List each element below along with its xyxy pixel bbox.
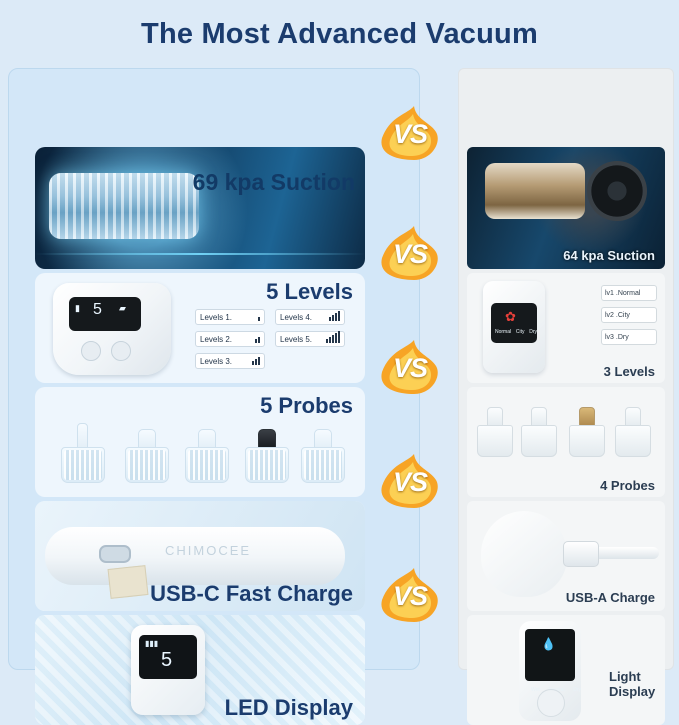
level-badge-5: Levels 5. [275,331,345,347]
probe-5 [301,431,343,483]
right-card-suction: 64 kpa Suction [467,147,665,269]
competitor-probe-3 [569,407,603,457]
probe-3 [185,431,227,483]
right-caption-display: Light Display [609,669,657,699]
vs-badge-3: VS [374,332,446,404]
screen-icon-a: ▮ [75,303,80,314]
level-badge-1-bars [258,317,260,321]
competitor-led-mode-wet: Wet [531,687,540,693]
competitor-led-mode-dry: Dry [573,687,581,693]
level-badge-4-bars [329,311,340,321]
left-card-probes: 5 Probes [35,387,365,497]
glow-line-decoration [35,253,365,255]
left-caption-probes: 5 Probes [260,393,353,419]
competitor-mode-dry: Dry [529,329,537,335]
competitor-led-screen: 💧 Wet Neutral Dry [525,629,575,681]
left-product-panel: 69 kpa Suction ▮ 5 ▰ Levels 1. Levels 2.… [8,68,420,670]
left-card-display: ▮▮▮ 5 LED Display [35,615,365,725]
usb-a-connector-icon [563,541,599,567]
right-competitor-panel: 64 kpa Suction ✿ Normal City Dry lv1 .No… [458,68,674,670]
led-screen-digit: 5 [161,649,172,672]
competitor-probe-1 [477,407,511,457]
probe-2 [125,431,167,483]
competitor-level-badge-2: lv2 .City [601,307,657,323]
competitor-level-badge-3: lv3 .Dry [601,329,657,345]
level-badge-3-bars [252,357,260,365]
right-caption-levels: 3 Levels [604,364,655,379]
left-card-charge: CHIMOCEE USB-C Fast Charge [35,501,365,611]
level-badge-3: Levels 3. [195,353,265,369]
left-caption-display: LED Display [225,695,353,721]
probe-1 [61,431,103,483]
competitor-screen-symbol: ✿ [505,309,516,325]
motor-illustration [49,173,199,239]
competitor-mode-city: City [516,329,525,335]
motor-photo-icon [35,147,365,269]
vs-label-4: VS [374,446,446,518]
left-caption-suction: 69 kpa Suction [193,169,355,196]
page-title: The Most Advanced Vacuum [0,18,679,51]
vs-label-5: VS [374,560,446,632]
vs-badge-4: VS [374,446,446,518]
right-caption-charge: USB-A Charge [566,590,655,605]
device-screen: ▮ 5 ▰ [69,297,141,331]
charging-tag [108,565,149,599]
level-badge-5-label: Levels 5. [280,335,312,344]
right-card-charge: USB-A Charge [467,501,665,611]
left-card-levels: ▮ 5 ▰ Levels 1. Levels 2. Levels 3. Leve… [35,273,365,383]
device-mode-button[interactable] [111,341,131,361]
competitor-led-knob[interactable] [537,689,565,717]
competitor-motor-illustration [485,163,585,219]
competitor-probe-4 [615,407,649,457]
vs-label-1: VS [374,98,446,170]
level-badge-5-bars [326,331,340,343]
level-badge-3-label: Levels 3. [200,357,232,366]
level-badge-2-label: Levels 2. [200,335,232,344]
led-device-screen: ▮▮▮ 5 [139,635,197,679]
competitor-level-badge-1: lv1 .Normal [601,285,657,301]
right-card-levels: ✿ Normal City Dry lv1 .Normal lv2 .City … [467,273,665,383]
led-device-illustration: ▮▮▮ 5 [131,625,205,715]
vs-label-2: VS [374,218,446,290]
battery-icon: ▰ [119,303,126,314]
left-caption-charge: USB-C Fast Charge [150,581,353,607]
level-badge-2-bars [255,337,260,343]
vs-badge-2: VS [374,218,446,290]
level-badge-1: Levels 1. [195,309,265,325]
led-screen-icons: ▮▮▮ [145,639,158,648]
vs-label-3: VS [374,332,446,404]
right-card-display: 💧 Wet Neutral Dry Light Display [467,615,665,725]
competitor-led-photo-icon: 💧 Wet Neutral Dry [519,621,581,721]
vs-badge-5: VS [374,560,446,632]
probe-4 [245,431,287,483]
device-photo-icon: ▮ 5 ▰ [53,283,171,375]
level-badge-4-label: Levels 4. [280,313,312,322]
competitor-mode-normal: Normal [495,329,511,335]
usb-a-photo-icon [481,511,567,597]
competitor-device-screen: ✿ Normal City Dry [491,303,537,343]
screen-level-digit: 5 [93,301,102,319]
right-card-probes: 4 Probes [467,387,665,497]
level-badge-2: Levels 2. [195,331,265,347]
vs-badge-1: VS [374,98,446,170]
left-caption-levels: 5 Levels [266,279,353,305]
water-drop-icon: 💧 [541,637,556,651]
device-power-button[interactable] [81,341,101,361]
level-badge-4: Levels 4. [275,309,345,325]
competitor-probe-2 [521,407,555,457]
left-card-suction: 69 kpa Suction [35,147,365,269]
level-badge-1-label: Levels 1. [200,313,232,322]
competitor-fan-illustration [587,161,647,221]
brand-logo: CHIMOCEE [165,543,251,558]
right-caption-suction: 64 kpa Suction [563,248,655,263]
usb-c-port-icon [99,545,131,563]
competitor-device-photo-icon: ✿ Normal City Dry [483,281,545,373]
right-caption-probes: 4 Probes [600,478,655,493]
